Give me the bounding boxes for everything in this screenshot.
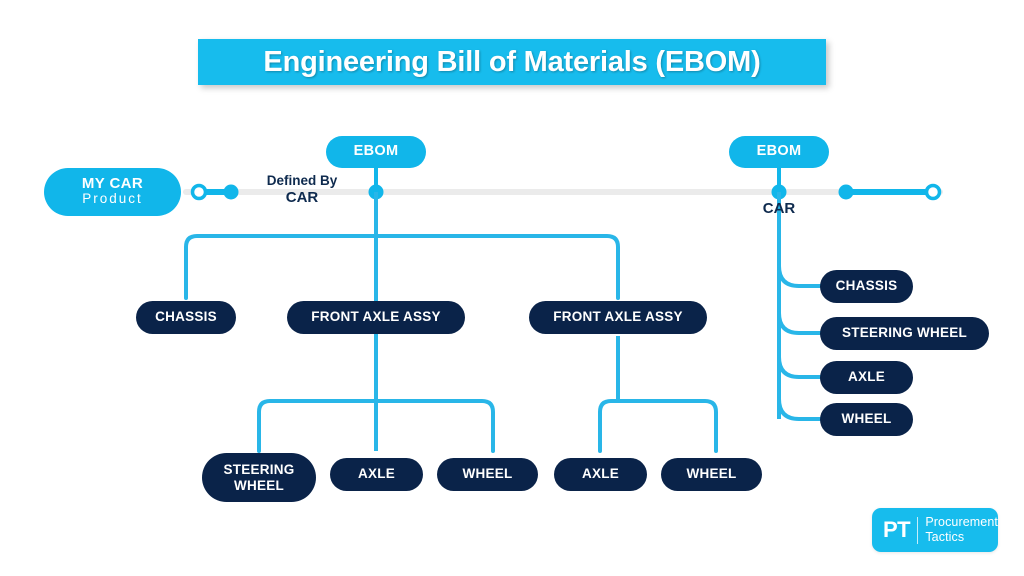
node-front-axle-assy-1[interactable]: FRONT AXLE ASSY [287, 301, 465, 334]
node-wheel-1[interactable]: WHEEL [437, 458, 538, 491]
procurement-tactics-logo: PT Procurement Tactics [872, 508, 998, 552]
node-front-axle-assy-2[interactable]: FRONT AXLE ASSY [529, 301, 707, 334]
node-axle-2[interactable]: AXLE [554, 458, 647, 491]
node-steering-wheel-left-line2: WHEEL [234, 478, 284, 493]
node-right-chassis[interactable]: CHASSIS [820, 270, 913, 303]
filled-dot-right [839, 185, 854, 200]
filled-dot-left [224, 185, 239, 200]
node-right-wheel[interactable]: WHEEL [820, 403, 913, 436]
node-axle-1-label: AXLE [358, 467, 395, 482]
node-right-steering-wheel[interactable]: STEERING WHEEL [820, 317, 989, 350]
node-wheel-2-label: WHEEL [687, 467, 737, 482]
car-label-right-text: CAR [763, 200, 796, 217]
node-wheel-1-label: WHEEL [463, 467, 513, 482]
logo-divider [917, 517, 918, 544]
ebom-pill-right-label: EBOM [757, 144, 802, 160]
left-level3-bus-b [600, 401, 716, 451]
right-elbow-steering-wheel [779, 313, 822, 333]
node-steering-wheel-left-line1: STEERING [223, 462, 294, 477]
node-axle-2-label: AXLE [582, 467, 619, 482]
car-label-right: CAR [739, 200, 819, 217]
node-chassis-left[interactable]: CHASSIS [136, 301, 236, 334]
node-right-axle[interactable]: AXLE [820, 361, 913, 394]
hollow-start-dot [193, 186, 206, 199]
node-wheel-2[interactable]: WHEEL [661, 458, 762, 491]
hollow-end-dot [927, 186, 940, 199]
node-chassis-left-label: CHASSIS [155, 310, 217, 325]
node-front-axle-assy-2-label: FRONT AXLE ASSY [553, 310, 683, 325]
right-elbow-wheel [779, 399, 822, 419]
node-right-steering-wheel-label: STEERING WHEEL [842, 326, 967, 341]
logo-wordmark-line2: Tactics [925, 530, 998, 545]
defined-by-caption: Defined By [243, 173, 361, 188]
defined-by-label: Defined By CAR [243, 173, 361, 206]
defined-by-value: CAR [243, 189, 361, 206]
node-steering-wheel-left[interactable]: STEERING WHEEL [202, 453, 316, 502]
node-axle-1[interactable]: AXLE [330, 458, 423, 491]
logo-wordmark-line1: Procurement [925, 515, 998, 530]
diagram-canvas: Engineering Bill of Materials (EBOM) [0, 0, 1024, 576]
logo-monogram: PT [883, 517, 910, 543]
my-car-subtitle: Product [82, 192, 143, 207]
ebom-pill-left-label: EBOM [354, 144, 399, 160]
right-elbow-chassis [779, 266, 822, 286]
node-right-axle-label: AXLE [848, 370, 885, 385]
node-front-axle-assy-1-label: FRONT AXLE ASSY [311, 310, 441, 325]
my-car-product-pill[interactable]: MY CAR Product [44, 168, 181, 216]
right-elbow-axle [779, 357, 822, 377]
left-level2-bus [186, 236, 618, 298]
ebom-pill-right[interactable]: EBOM [729, 136, 829, 168]
logo-wordmark: Procurement Tactics [925, 515, 998, 545]
ebom-pill-left[interactable]: EBOM [326, 136, 426, 168]
node-right-chassis-label: CHASSIS [836, 279, 898, 294]
node-right-wheel-label: WHEEL [842, 412, 892, 427]
my-car-title: MY CAR [82, 176, 143, 192]
